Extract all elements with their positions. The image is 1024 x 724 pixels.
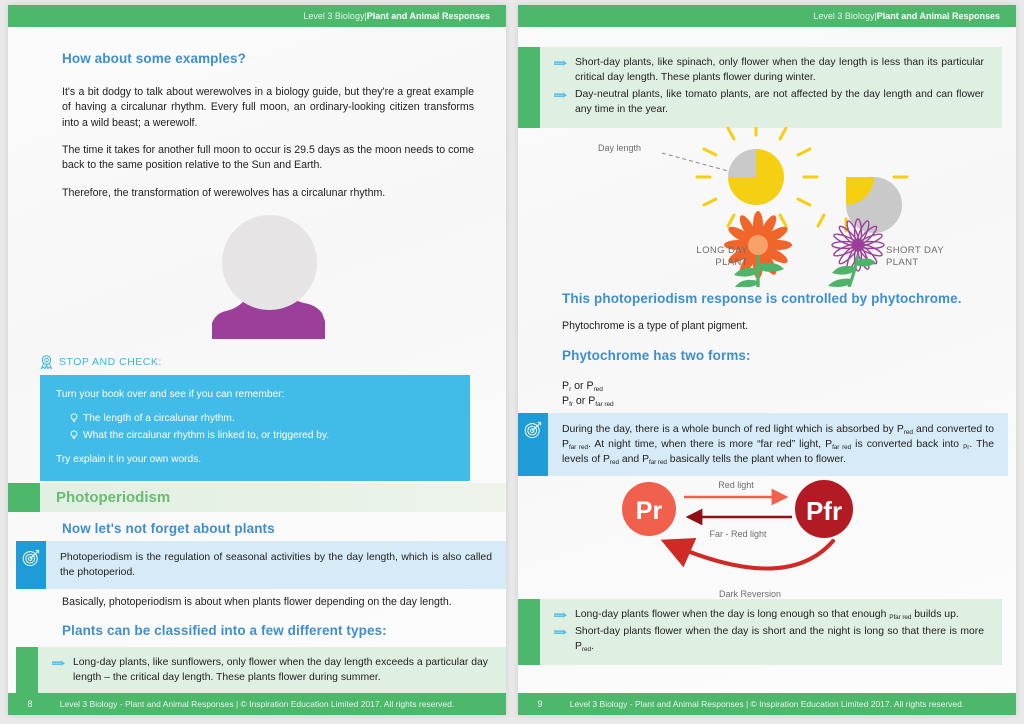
section-accent-tab (8, 483, 40, 512)
page-footer-left: 8 Level 3 Biology - Plant and Animal Res… (8, 693, 506, 715)
long-day-plant-label: LONG DAY PLANT (676, 245, 748, 269)
stop-and-check-intro: Turn your book over and see if you can r… (56, 387, 454, 402)
phytochrome-form-pr: Pr or Pred (562, 379, 862, 394)
arrow-bullet-icon (52, 659, 66, 668)
pred-symbol: P (586, 380, 593, 392)
bullet-text-column: Short-day plants, like spinach, only flo… (540, 47, 1002, 128)
page-footer-right: 9 Level 3 Biology - Plant and Animal Res… (518, 693, 1016, 715)
bullet-1-pre: Short-day plants flower when the day is … (575, 626, 984, 652)
pfr-circle-label: Pfr (806, 496, 842, 526)
moon-circle (222, 215, 317, 310)
def-sub-1: red (904, 429, 913, 436)
definition-callout-phytochrome: During the day, there is a whole bunch o… (518, 413, 1008, 476)
arrow-bullet-icon (554, 91, 568, 100)
bullet-callout-plant-types: Short-day plants, like spinach, only flo… (518, 47, 1002, 128)
short-day-plant-label-line2: PLANT (886, 257, 972, 269)
phytochrome-form-pfr: Pfr or Pfar red (562, 394, 862, 409)
heading-phytochrome-control: This photoperiodism response is controll… (562, 291, 992, 306)
def-part-6: is converted back into (851, 439, 963, 450)
paragraph-full-moon-cycle: The time it takes for another full moon … (62, 143, 474, 174)
list-item: What the circalunar rhythm is linked to,… (70, 428, 454, 443)
header-topic: Plant and Animal Responses (367, 11, 490, 21)
pred-subscript: red (594, 386, 603, 393)
header-separator: | (364, 11, 366, 21)
long-day-plant-label-line1: LONG DAY (676, 245, 748, 257)
sun-short-day-icon (818, 177, 907, 233)
paragraph-conclusion: Therefore, the transformation of werewol… (62, 186, 474, 201)
definition-text: Photoperiodism is the regulation of seas… (46, 541, 506, 589)
list-item: The length of a circalunar rhythm. (70, 411, 454, 426)
footer-page-number: 8 (8, 699, 52, 709)
heading-phytochrome-forms: Phytochrome has two forms: (562, 348, 982, 363)
left-page: Level 3 Biology | Plant and Animal Respo… (8, 5, 506, 715)
page-title: How about some examples? (62, 51, 462, 66)
list-item: Long-day plants flower when the day is l… (554, 607, 984, 622)
header-topic: Plant and Animal Responses (877, 11, 1000, 21)
werewolf-illustration (204, 213, 334, 343)
phytochrome-forms-list: Pr or Pred Pfr or Pfar red (562, 379, 862, 410)
list-item: Short-day plants flower when the day is … (554, 624, 984, 654)
bullet-0-sub: Pfar red (889, 614, 911, 621)
section-title: Photoperiodism (40, 483, 170, 512)
red-light-arrow-label: Red light (718, 480, 754, 490)
subheading-plant-types: Plants can be classified into a few diff… (62, 623, 492, 638)
bullet-1-sub: red (582, 646, 591, 653)
def-part-10: and P (619, 454, 649, 465)
bullet-text-column: Long-day plants, like sunflowers, only f… (38, 647, 506, 696)
bullet-0-pre: Long-day plants flower when the day is l… (575, 609, 889, 620)
page-header-right: Level 3 Biology | Plant and Animal Respo… (518, 5, 1016, 27)
purple-chrysanthemum-icon (828, 219, 884, 287)
footer-page-number: 9 (518, 699, 562, 709)
short-day-plant-label: SHORT DAY PLANT (886, 245, 972, 269)
left-page-content: How about some examples? It's a bit dodg… (8, 27, 506, 693)
list-item: Long-day plants, like sunflowers, only f… (52, 655, 488, 685)
list-item-label: The length of a circalunar rhythm. (83, 411, 235, 426)
definition-icon-column (16, 541, 46, 589)
definition-icon-column (518, 413, 548, 476)
list-item-label: Short-day plants flower when the day is … (575, 624, 984, 654)
stop-and-check-title: STOP AND CHECK: (59, 356, 162, 368)
footer-copyright: Level 3 Biology - Plant and Animal Respo… (562, 699, 1016, 709)
pfr-conjunction: or (573, 395, 588, 407)
right-page-content: Short-day plants, like spinach, only flo… (518, 27, 1016, 693)
subheading-plants: Now let's not forget about plants (62, 521, 462, 536)
arrow-bullet-icon (554, 611, 568, 620)
bullet-text-column: Long-day plants flower when the day is l… (540, 599, 1002, 665)
stop-and-check-title-row: STOP AND CHECK: (40, 355, 470, 369)
def-part-0: During the day, there is a whole bunch o… (562, 424, 904, 435)
def-sub-11: far red (649, 459, 667, 466)
bullet-callout-flowering-summary: Long-day plants flower when the day is l… (518, 599, 1002, 665)
header-course: Level 3 Biology (303, 11, 364, 21)
target-dart-icon (22, 549, 40, 567)
footer-copyright: Level 3 Biology - Plant and Animal Respo… (52, 699, 506, 709)
pfarred-subscript: far red (595, 401, 613, 408)
two-page-spread: Level 3 Biology | Plant and Animal Respo… (0, 0, 1024, 724)
page-header-left: Level 3 Biology | Plant and Animal Respo… (8, 5, 506, 27)
lightbulb-icon (70, 430, 78, 441)
day-length-callout-label: Day length (598, 143, 641, 153)
stop-and-check-outro: Try explain it in your own words. (56, 452, 454, 467)
award-ribbon-icon (40, 355, 53, 369)
long-day-plant-label-line2: PLANT (676, 257, 748, 269)
target-dart-icon (524, 421, 542, 439)
def-part-12: basically tells the plant when to flower… (667, 454, 846, 465)
stop-and-check-list: The length of a circalunar rhythm. What … (70, 411, 454, 443)
list-item-label: Short-day plants, like spinach, only flo… (575, 55, 984, 85)
arrow-bullet-icon (554, 628, 568, 637)
definition-text: During the day, there is a whole bunch o… (548, 413, 1008, 476)
right-page: Level 3 Biology | Plant and Animal Respo… (518, 5, 1016, 715)
definition-callout-photoperiodism: Photoperiodism is the regulation of seas… (16, 541, 506, 589)
arrow-bullet-icon (554, 59, 568, 68)
paragraph-phytochrome-pigment: Phytochrome is a type of plant pigment. (562, 319, 982, 334)
bullet-1-post: . (591, 641, 594, 652)
lightbulb-icon (70, 413, 78, 424)
header-course: Level 3 Biology (813, 11, 874, 21)
bullet-accent-tab (518, 47, 540, 128)
list-item: Day-neutral plants, like tomato plants, … (554, 87, 984, 117)
far-red-light-arrow-label: Far - Red light (709, 529, 767, 539)
stop-and-check-box: Turn your book over and see if you can r… (40, 375, 470, 481)
phytochrome-conversion-cycle: Pr Pfr Red light Far - Red light Dark Re… (596, 473, 936, 603)
day-length-plant-diagram: Day length (558, 127, 998, 287)
pr-circle-label: Pr (636, 497, 663, 525)
list-item: Short-day plants, like spinach, only flo… (554, 55, 984, 85)
pr-conjunction: or (571, 380, 586, 392)
bullet-accent-tab (518, 599, 540, 665)
def-sub-3: far red (569, 444, 588, 451)
dark-reversion-label: Dark Reversion (719, 589, 781, 599)
header-separator: | (874, 11, 876, 21)
list-item-label: Long-day plants flower when the day is l… (575, 607, 984, 622)
bullet-0-post: builds up. (911, 609, 958, 620)
short-day-plant-label-line1: SHORT DAY (886, 245, 972, 257)
def-part-4: . At night time, when there is more “far… (588, 439, 832, 450)
dark-reversion-arrow (668, 541, 833, 569)
bullet-accent-tab (16, 647, 38, 696)
def-sub-5: far red (832, 444, 851, 451)
day-length-leader-line (662, 153, 728, 171)
paragraph-werewolf-intro: It's a bit dodgy to talk about werewolve… (62, 85, 474, 131)
list-item-label: What the circalunar rhythm is linked to,… (83, 428, 329, 443)
paragraph-photoperiodism-basic: Basically, photoperiodism is about when … (62, 595, 474, 610)
section-header-photoperiodism: Photoperiodism (8, 483, 506, 512)
list-item-label: Long-day plants, like sunflowers, only f… (73, 655, 488, 685)
bullet-callout-long-day: Long-day plants, like sunflowers, only f… (16, 647, 506, 696)
def-sub-9: red (610, 459, 619, 466)
list-item-label: Day-neutral plants, like tomato plants, … (575, 87, 984, 117)
